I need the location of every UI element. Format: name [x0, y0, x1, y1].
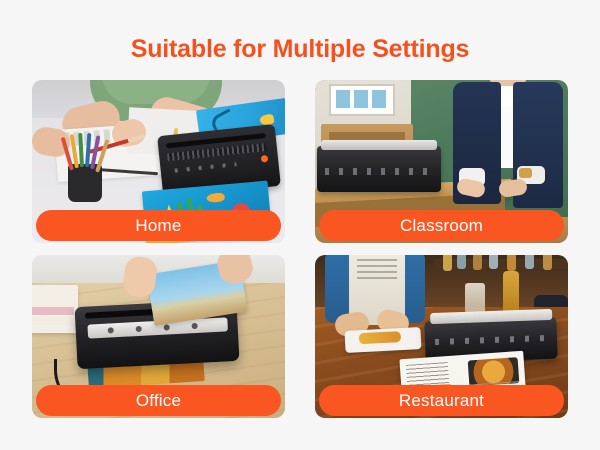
- bar-bottle: [507, 255, 516, 271]
- promo-page: Suitable for Multiple Settings: [0, 0, 600, 450]
- settings-card-classroom[interactable]: Classroom: [315, 80, 568, 243]
- card-label-home[interactable]: Home: [36, 210, 281, 241]
- orange-fish-doodle: [206, 192, 225, 203]
- settings-card-grid: ★ Home: [32, 80, 568, 418]
- bar-bottle: [525, 255, 534, 269]
- settings-card-home[interactable]: ★ Home: [32, 80, 285, 243]
- restaurant-plate: [344, 327, 421, 353]
- apron-print: [357, 259, 397, 281]
- home-pencil-cup: [68, 164, 102, 202]
- poster-panel: [372, 90, 386, 108]
- laminator-power-light: [261, 155, 269, 163]
- teacher-wristwatch: [519, 168, 532, 178]
- panel-button: [191, 323, 197, 329]
- office-pink-folder: [32, 307, 74, 315]
- classroom-poster: [329, 84, 395, 116]
- panel-button: [108, 327, 114, 333]
- laminator-buttons: [325, 168, 433, 175]
- bar-bottle: [489, 255, 498, 269]
- oil-cruet: [503, 271, 519, 313]
- menu-text-column: [406, 362, 449, 387]
- laminator-top-panel: [321, 140, 437, 150]
- page-title: Suitable for Multiple Settings: [0, 34, 600, 64]
- condiment-jar: [465, 283, 485, 313]
- office-white-folder: [32, 317, 72, 325]
- laminator-buttons: [435, 335, 547, 345]
- card-label-office[interactable]: Office: [36, 385, 281, 416]
- classroom-teacher: [455, 80, 563, 228]
- plated-food: [359, 331, 402, 344]
- settings-card-restaurant[interactable]: Restaurant: [315, 255, 568, 418]
- poster-panel: [354, 90, 368, 108]
- card-label-restaurant[interactable]: Restaurant: [319, 385, 564, 416]
- bar-bottle: [543, 255, 552, 270]
- poster-panel: [336, 90, 350, 108]
- panel-button: [164, 324, 170, 330]
- card-label-classroom[interactable]: Classroom: [319, 210, 564, 241]
- settings-card-office[interactable]: Office: [32, 255, 285, 418]
- panel-button: [136, 326, 142, 332]
- bar-bottle: [457, 255, 466, 269]
- classroom-laminator: [317, 146, 441, 192]
- bar-bottle: [443, 255, 452, 271]
- laminator-indicator-lights: [175, 162, 237, 172]
- bar-bottle: [473, 255, 482, 270]
